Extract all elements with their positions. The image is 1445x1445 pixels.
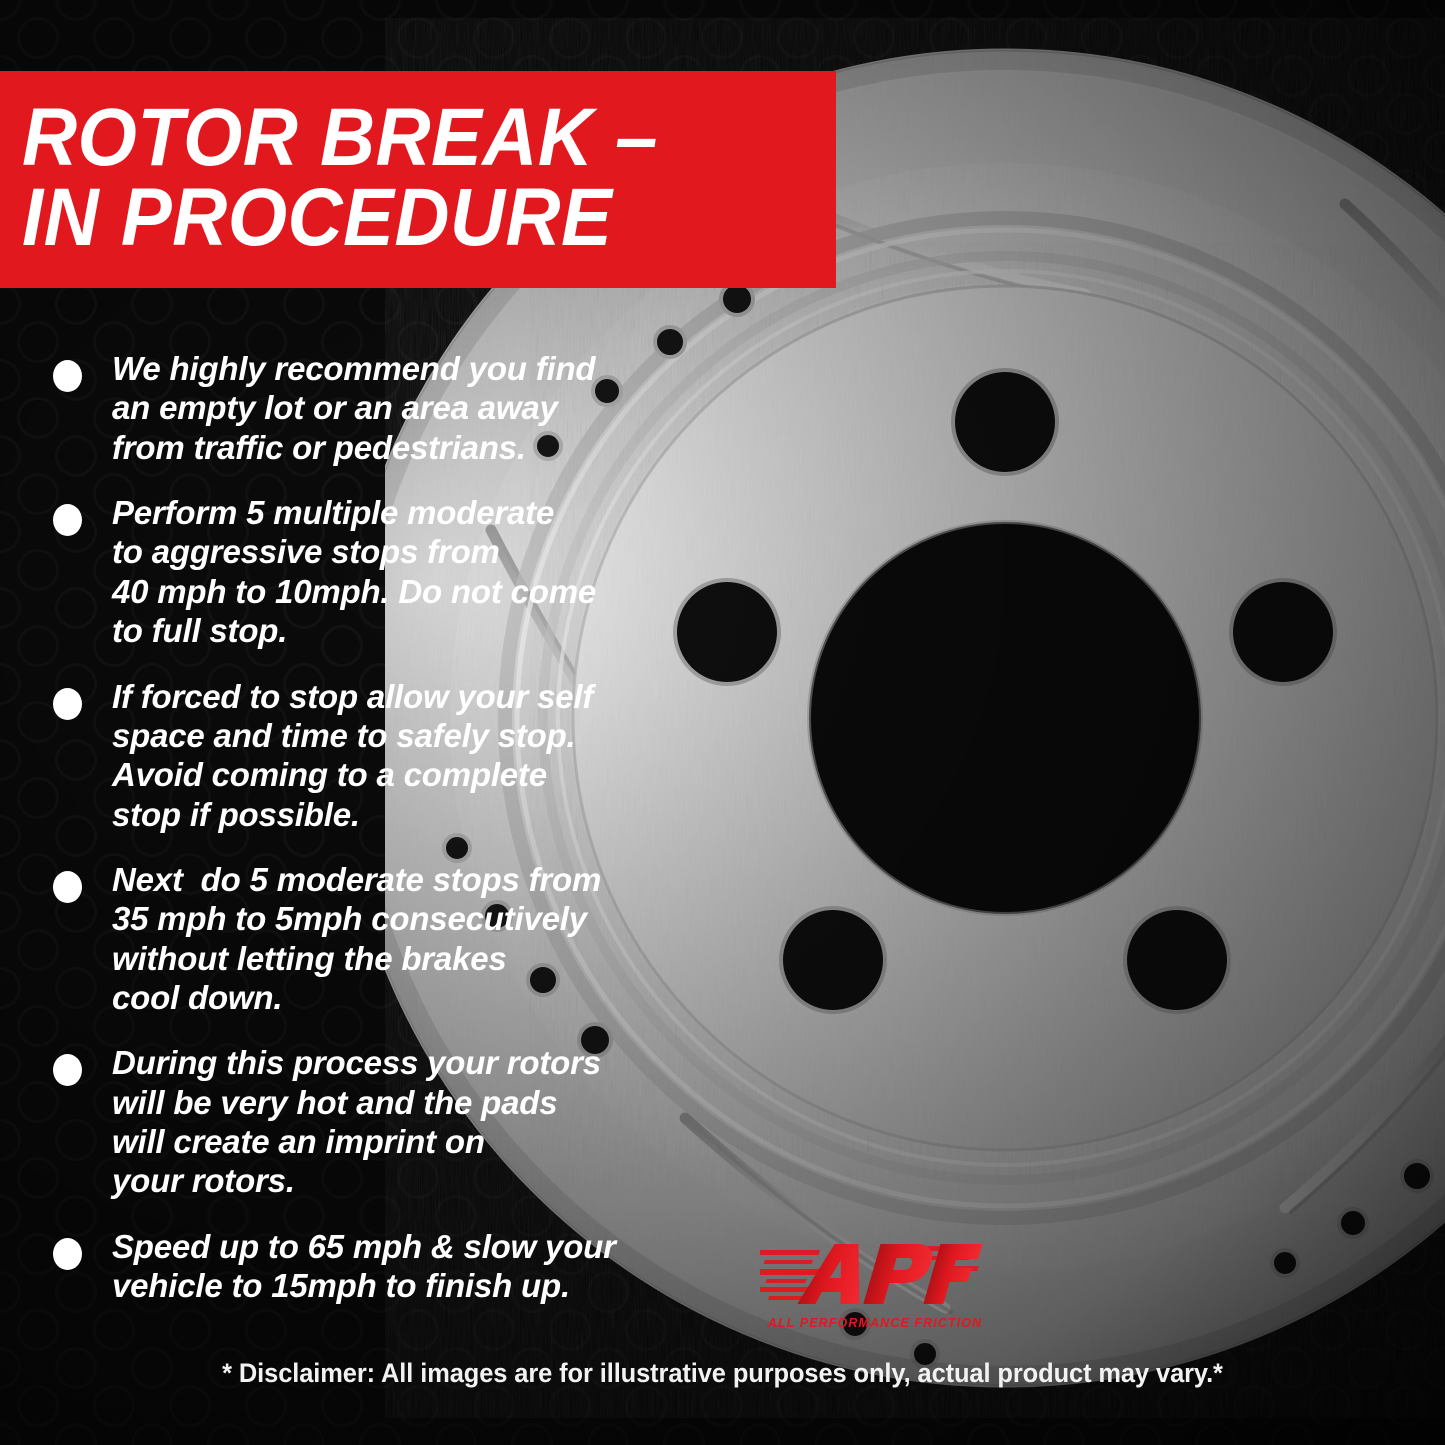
bullet-dot-icon xyxy=(53,688,82,720)
poster-root: ROTOR BREAK – IN PROCEDURE We highly rec… xyxy=(0,0,1445,1445)
list-item: Perform 5 multiple moderate to aggressiv… xyxy=(40,494,780,651)
apf-tagline: ALL PERFORMANCE FRICTION xyxy=(767,1316,982,1330)
list-item: If forced to stop allow your self space … xyxy=(40,678,780,835)
bullet-dot-icon xyxy=(53,871,82,903)
title-banner: ROTOR BREAK – IN PROCEDURE xyxy=(0,71,836,288)
page-title-line-2: IN PROCEDURE xyxy=(22,178,779,258)
list-item-text: We highly recommend you find an empty lo… xyxy=(112,350,595,468)
apf-brand-logo: ALL PERFORMANCE FRICTION xyxy=(760,1232,990,1337)
list-item: During this process your rotors will be … xyxy=(40,1044,780,1201)
list-item-text: Speed up to 65 mph & slow your vehicle t… xyxy=(112,1228,616,1307)
list-item-text: During this process your rotors will be … xyxy=(112,1044,601,1201)
bullet-dot-icon xyxy=(53,360,82,392)
bullet-dot-icon xyxy=(53,1054,82,1086)
list-item-text: Next do 5 moderate stops from 35 mph to … xyxy=(112,861,601,1018)
list-item: Speed up to 65 mph & slow your vehicle t… xyxy=(40,1228,780,1307)
list-item-text: If forced to stop allow your self space … xyxy=(112,678,593,835)
list-item-text: Perform 5 multiple moderate to aggressiv… xyxy=(112,494,596,651)
bullet-dot-icon xyxy=(53,504,82,536)
list-item: We highly recommend you find an empty lo… xyxy=(40,350,780,468)
procedure-step-list: We highly recommend you find an empty lo… xyxy=(40,350,780,1333)
list-item: Next do 5 moderate stops from 35 mph to … xyxy=(40,861,780,1018)
bullet-dot-icon xyxy=(53,1238,82,1270)
disclaimer-text: * Disclaimer: All images are for illustr… xyxy=(29,1358,1416,1389)
page-title-line-1: ROTOR BREAK – xyxy=(22,98,779,178)
